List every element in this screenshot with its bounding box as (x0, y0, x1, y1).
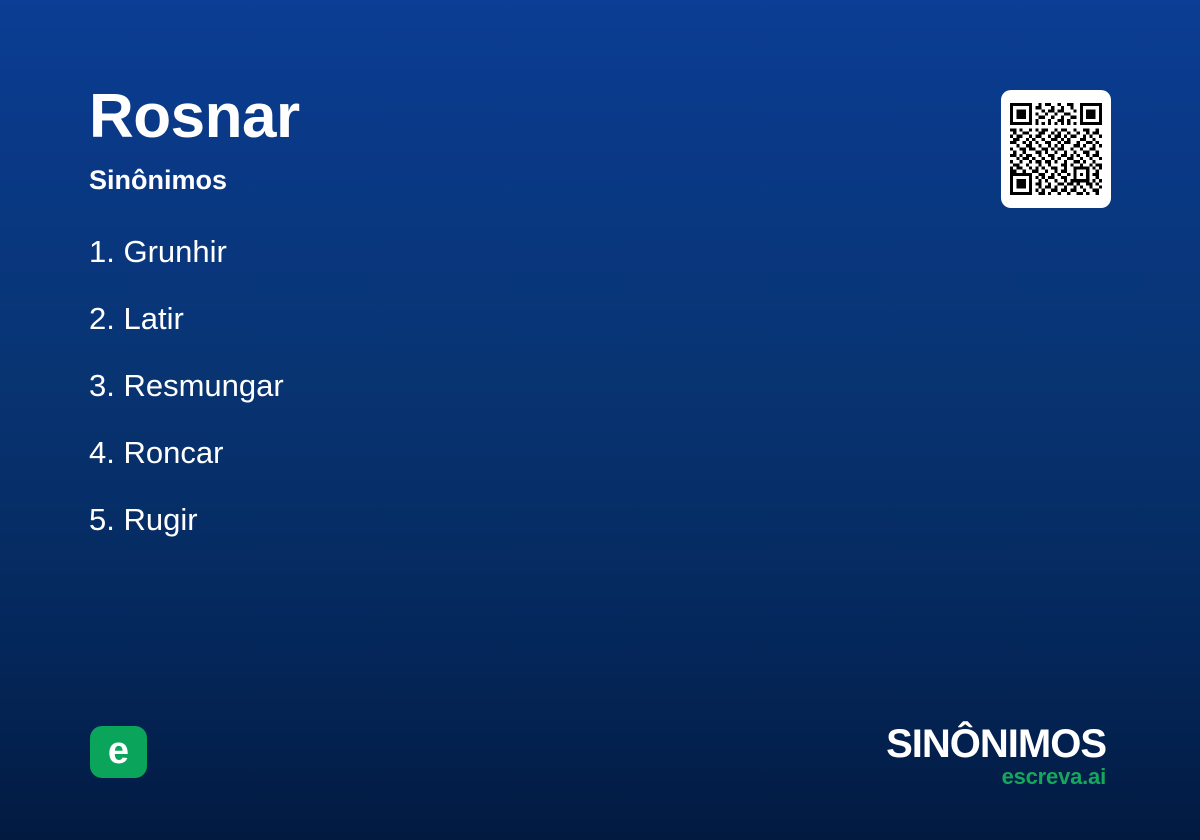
footer-logo-subtitle: escreva.ai (886, 766, 1106, 788)
list-item-index: 5. (89, 502, 115, 537)
list-item: 5. Rugir (89, 504, 889, 535)
list-item-word: Roncar (123, 435, 223, 470)
page-subtitle: Sinônimos (89, 167, 300, 194)
footer-logo-title: SINÔNIMOS (886, 724, 1106, 764)
list-item-index: 3. (89, 368, 115, 403)
list-item-word: Resmungar (123, 368, 283, 403)
list-item-word: Rugir (123, 502, 197, 537)
list-item-word: Grunhir (123, 234, 226, 269)
list-item-word: Latir (123, 301, 183, 336)
list-item-index: 1. (89, 234, 115, 269)
qr-code[interactable] (1001, 90, 1111, 208)
brand-mark-letter: e (108, 732, 129, 770)
list-item: 2. Latir (89, 303, 889, 334)
synonym-list: 1. Grunhir 2. Latir 3. Resmungar 4. Ronc… (89, 236, 889, 535)
escreva-brand-mark-icon: e (90, 726, 147, 778)
list-item: 1. Grunhir (89, 236, 889, 267)
header: Rosnar Sinônimos (89, 86, 300, 194)
list-item: 3. Resmungar (89, 370, 889, 401)
footer-logo: SINÔNIMOS escreva.ai (886, 724, 1106, 788)
synonym-card: Rosnar Sinônimos (0, 0, 1200, 840)
list-item-index: 4. (89, 435, 115, 470)
qr-code-icon (1010, 103, 1102, 195)
list-item-index: 2. (89, 301, 115, 336)
list-item: 4. Roncar (89, 437, 889, 468)
page-title: Rosnar (89, 86, 300, 148)
